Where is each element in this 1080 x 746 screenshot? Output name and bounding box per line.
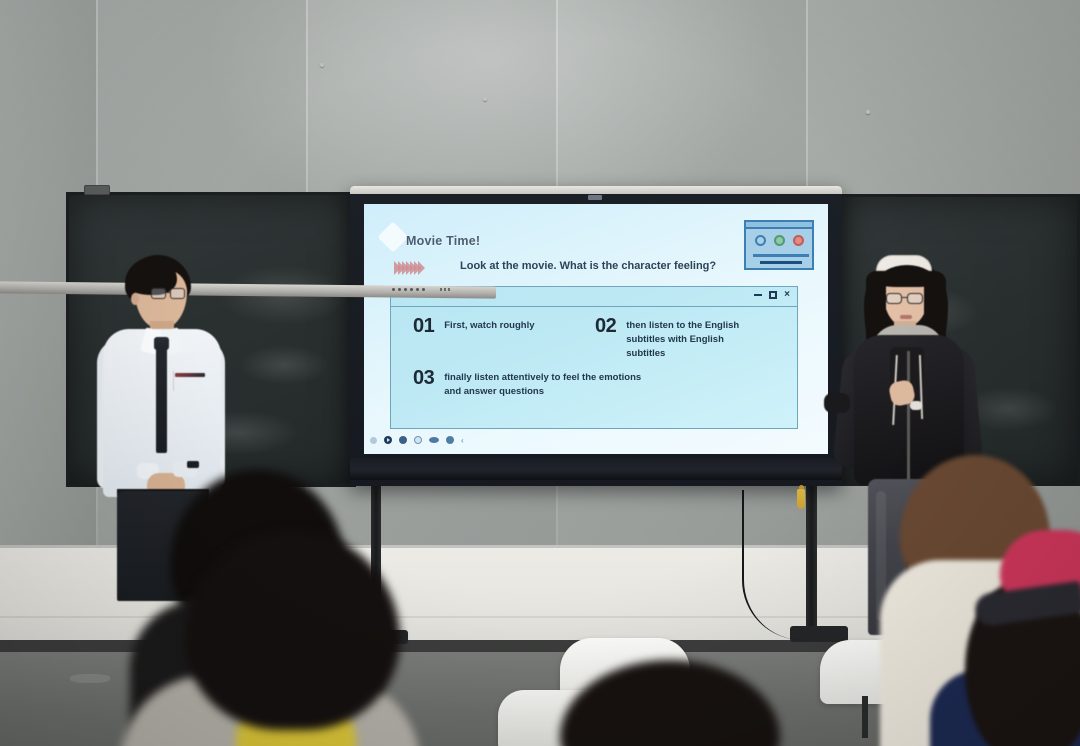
step-text: then listen to the English subtitles wit…	[626, 315, 763, 360]
presentation-slide: Movie Time! Look at the movie. What is t…	[364, 204, 828, 454]
step-number: 02	[595, 315, 616, 338]
wall-bolt	[320, 63, 324, 67]
gold-tassel-ornament	[797, 489, 805, 509]
diamond-decoration-icon	[377, 221, 408, 252]
glasses-icon	[886, 293, 926, 305]
close-icon[interactable]: ×	[784, 291, 790, 299]
chalk-smudge	[239, 345, 329, 385]
step-item: 02 then listen to the English subtitles …	[595, 315, 763, 360]
browser-dot-green-icon	[774, 235, 785, 246]
play-icon[interactable]	[384, 436, 392, 444]
maximize-icon[interactable]	[769, 291, 777, 299]
browser-dot-red-icon	[793, 235, 804, 246]
chalkboard-clip	[84, 185, 110, 195]
step-number: 03	[413, 367, 434, 390]
necktie	[156, 343, 167, 453]
step-item: 03 finally listen attentively to feel th…	[413, 367, 643, 399]
jacket-zipper	[907, 351, 910, 481]
classroom-scene: Movie Time! Look at the movie. What is t…	[0, 0, 1080, 746]
display-ports	[440, 288, 450, 291]
browser-dot-blue-icon	[755, 235, 766, 246]
pen-icon[interactable]	[397, 434, 408, 445]
step-number: 01	[413, 315, 434, 338]
floor-speckle	[70, 674, 110, 683]
step-item: 01 First, watch roughly	[413, 315, 593, 338]
ear	[131, 293, 139, 305]
shape-icon[interactable]	[446, 436, 454, 444]
browser-window-decoration-icon	[744, 220, 814, 270]
slide-toolbar[interactable]: ‹	[370, 433, 490, 447]
pocket-pen	[175, 373, 205, 377]
display-top-bezel	[350, 186, 842, 194]
window-controls: ×	[754, 291, 790, 299]
glasses-icon	[151, 288, 187, 300]
display-screen[interactable]: Movie Time! Look at the movie. What is t…	[364, 204, 828, 454]
sleeve-cuff	[910, 401, 922, 410]
step-text: First, watch roughly	[444, 315, 534, 333]
browser-icon-line	[760, 261, 802, 264]
collapse-chevron-icon[interactable]: ‹	[461, 436, 464, 445]
slide-inner-window: × 01 First, watch roughly 02 then listen…	[390, 286, 798, 429]
chair-leg	[862, 696, 868, 738]
chevron-arrows-icon	[397, 261, 425, 275]
record-dot-icon[interactable]	[370, 437, 377, 444]
eraser-icon[interactable]	[429, 437, 439, 443]
browser-icon-line	[753, 254, 809, 257]
interactive-display[interactable]: Movie Time! Look at the movie. What is t…	[350, 186, 842, 486]
browser-icon-dots	[755, 235, 804, 246]
wall-bolt	[483, 97, 487, 101]
slide-title: Movie Time!	[406, 234, 480, 248]
wall-bolt	[866, 110, 870, 114]
step-text: finally listen attentively to feel the e…	[444, 367, 643, 399]
mouth	[900, 315, 912, 319]
slide-question-text: Look at the movie. What is the character…	[460, 260, 716, 272]
display-bottom-bezel	[350, 458, 842, 480]
hand-left	[824, 393, 850, 413]
wristwatch	[187, 461, 199, 468]
minimize-icon[interactable]	[754, 294, 762, 296]
browser-icon-titlebar	[746, 222, 812, 229]
display-indicator-lights	[392, 288, 425, 291]
display-camera	[588, 195, 602, 200]
select-frame-icon[interactable]	[414, 436, 422, 444]
